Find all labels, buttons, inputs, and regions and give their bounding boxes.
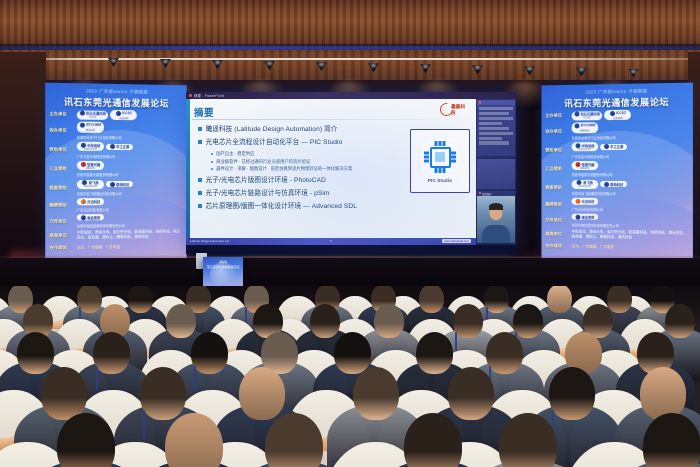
banner-sponsor-label: 汇品赞助 [545,166,571,172]
sponsor-logo-name: ICCSZ [616,111,626,115]
sponsor-logo-mark-icon [79,111,84,116]
sponsor-logo-chip: 易飞扬GIGALIGHT [572,180,599,189]
sponsor-company-name: 东莞市铭普光磁股份有限公司 [77,172,183,177]
sponsor-company-name: 广东光迅科技有限公司 [77,207,183,213]
attendee-lanyard [455,332,457,351]
sponsor-logo-chip: 中际旭创INNOLIGHT [572,142,599,151]
banner-sponsor-label: 交传单位 [49,218,77,224]
video-tile-speaker[interactable]: 演讲嘉宾 [477,191,515,243]
sponsor-logo-name: 华工正源 [116,144,129,149]
sponsor-logo-chip: 联特科技 [600,181,627,187]
sponsor-logo-chip: 海信宽带 [77,214,104,220]
participant-row [479,112,509,115]
sponsor-company-name: 广东华星光电科技有限公司 [77,154,183,159]
audience-member-head [547,286,572,313]
sponsor-logo-chip: 易飞扬GIGALIGHT [77,180,104,189]
banner-media-row: 合作媒体华为、广东联通、广东电信 [545,242,688,253]
screenshot-root: 2023 广东能source 升级赋能 讯石东莞光通信发展论坛 主办单位讯石光通… [0,0,700,467]
banner-screen-left: 2023 广东能source 升级赋能 讯石东莞光通信发展论坛 主办单位讯石光通… [45,83,186,264]
chip-pins-right [451,152,456,163]
audience-member-head [239,367,285,420]
banner-sponsor-label: 赞助单位 [545,148,571,154]
audience-member-head [416,332,453,374]
pic-studio-caption: PIC Studio [428,178,452,183]
sponsor-company-name: 东莞市海信宽带科技有限责任公司 [77,222,183,228]
banner-sponsor-logos: 讯石光通讯网ICCSZICCSZ光通讯网 [77,109,183,120]
projection-screen: 摘要 - PowerPoint 摘要 鑫磊科技 曦遥科技 (Latitude D… [186,92,516,254]
banner-sponsor-label: 汇品赞助 [49,166,77,172]
sponsor-logo-sub: ICCSZ [89,116,96,119]
sponsor-logo-chip: 铭普光磁MINGPU [77,161,104,170]
sponsor-logo-chip: 光迅科技 [77,199,104,205]
audience-member-head [640,367,686,420]
banner-sponsor-row: 赞助单位中际旭创INNOLIGHT华工正源广东华星光电科技有限公司 [545,142,688,159]
sponsor-logo-chip: ICCSZ光通讯网 [110,110,137,120]
slide-bullet-list: 曦遥科技 (Latitude Design Automation) 简介光电芯片… [198,125,398,215]
banner-sponsor-logos: BTCOMM博创科技东莞市光电子行业协会有限公司 [572,122,689,141]
banner-media-row: 合作媒体华为、广东联通、广东电信 [49,242,183,253]
banner-right-title: 讯石东莞光通信发展论坛 [541,95,692,110]
sponsor-logo-chip: BTCOMM博创科技 [572,123,599,133]
audience-member-head [419,286,444,313]
chip-pins-left [424,152,429,163]
banner-sponsor-logos: 海信宽带东莞市海信宽带科技有限责任公司 [77,214,183,229]
banner-sponsor-label: 交传单位 [545,217,571,223]
participant-row [479,141,509,144]
app-record-dot-icon [189,94,192,97]
chip-icon [422,139,458,175]
sponsor-company-name: 东莞市海信宽带科技有限责任公司 [572,222,689,228]
banner-sponsor-logos: 铭普光磁MINGPU东莞市铭普光磁股份有限公司 [77,161,183,178]
slide-subbullet-text: 器件设计 · 求解 · 版图设计 · 前后仿真到流片物理验证的一体化解决方案 [216,166,352,172]
sponsor-logo-sub: 博创科技 [580,128,589,132]
banner-sponsor-logos: 易飞扬GIGALIGHT联特科技东莞市易飞扬通信科技有限公司 [572,180,689,197]
banner-sponsor-row: 汇品赞助铭普光磁MINGPU东莞市铭普光磁股份有限公司 [545,161,688,178]
audience-member-head [310,304,340,338]
banner-sponsor-logos: 中际旭创INNOLIGHT华工正源广东华星光电科技有限公司 [572,142,689,159]
sponsor-logo-name: BTCOMM [86,123,101,127]
audience-member-head [353,367,399,420]
banner-sponsor-logos: 讯石光通讯网ICCSZICCSZ光通讯网 [572,109,689,121]
banner-exhibitor-list: 中际旭创、昂纳光电、索尔思光电、新易盛科技、剑桥科技、瑞光克拉、高意通、德科立、… [77,229,183,241]
slide-bullet: 光子/光电芯片版图设计环境 - PhotoCAD [198,176,398,185]
slide-bullet: 芯片原理图/版图一体化设计环境 — Advanced SDL [198,202,398,211]
attendee-lanyard [245,307,247,323]
sponsor-logo-mark-icon [80,123,85,128]
slide-subbullet-list: 国产自主 · 稳定供应商业级软件 · 已经过通讯行业头部用户的流片验证器件设计 … [211,151,398,172]
slide-bullet-text: 芯片原理图/版图一体化设计环境 — Advanced SDL [206,202,357,211]
slide-bullet-text: 光子/光电芯片版图设计环境 - PhotoCAD [206,176,326,185]
bullet-square-icon [198,191,202,195]
audience-area [0,286,700,467]
banner-sponsor-row: 协办单位BTCOMM博创科技东莞市光电子行业协会有限公司 [545,122,688,141]
sponsor-logo-mark-icon [604,182,609,187]
audience-member-head [93,332,130,374]
banner-exhibitor-row: 展商单位中际旭创、昂纳光电、索尔思光电、新易盛科技、剑桥科技、瑞光克拉、高意通、… [545,229,688,241]
slide-accent-bar [186,99,190,245]
slide-bullet: 曦遥科技 (Latitude Design Automation) 简介 [198,125,398,134]
banner-sponsor-row: 协办单位BTCOMM博创科技东莞市光电子行业协会有限公司 [49,122,183,141]
audience-member-head [41,367,87,420]
audience-member-head [486,332,523,374]
sponsor-logo-chip: 讯石光通讯网ICCSZ [572,111,603,121]
banner-sponsor-logos: 易飞扬GIGALIGHT联特科技东莞市易飞扬通信科技有限公司 [77,180,183,197]
banner-sponsor-label: 主办单位 [49,111,77,117]
subbullet-dot-icon [211,161,213,163]
sponsor-logo-mark-icon [575,214,580,219]
slide-footer-right: www.latitudeda.com [442,239,471,243]
subbullet-dot-icon [211,168,213,170]
banner-sponsor-label: 主办单位 [545,113,571,119]
banner-sponsor-label: 胸牌赞助 [545,202,571,208]
audience-member-head [453,304,483,338]
sponsor-logo-name: BTCOMM [581,124,596,128]
speaker-video-image [477,196,515,243]
sponsor-company-name: 东莞市铭普光磁股份有限公司 [572,172,689,177]
slide-footer: Latitude Design Automation Ltd. 5 www.la… [186,238,476,245]
banner-exhibitor-label: 展商单位 [49,233,77,239]
sponsor-logo-name: 光迅科技 [582,199,595,204]
banner-media-label: 合作媒体 [49,245,77,251]
sponsor-logo-name: 华工正源 [610,144,623,149]
sponsor-logo-chip: 华工正源 [600,144,627,150]
sponsor-company-name: 东莞市光电子行业协会有限公司 [77,135,183,141]
attendee-lanyard [143,410,145,440]
banner-sponsor-row: 胸牌赞助光迅科技广东光迅科技有限公司 [49,198,183,212]
pic-studio-card: PIC Studio [410,129,470,193]
sponsor-company-name: 东莞市易飞扬通信科技有限公司 [572,191,689,196]
slide-bullet: 光子/光电芯片链路设计与仿真环境 - pSim [198,189,398,198]
slide-footer-left: Latitude Design Automation Ltd. [190,239,230,243]
sponsor-logo-chip: 光迅科技 [572,198,599,204]
video-conference-rail: 演讲嘉宾 [476,99,516,245]
banner-sponsor-row: 胸牌赞助光迅科技广东光迅科技有限公司 [545,198,688,213]
sponsor-company-name: 广东华星光电科技有限公司 [572,153,689,158]
banner-sponsor-row: 主办单位讯石光通讯网ICCSZICCSZ光通讯网 [545,109,688,121]
slide-subbullet-text: 国产自主 · 稳定供应 [216,151,254,157]
banner-sponsor-logos: 光迅科技广东光迅科技有限公司 [572,198,689,212]
slide-title: 摘要 [194,105,214,119]
banner-sponsor-label: 胸牌赞助 [49,202,77,208]
sponsor-logo-chip: 联特科技 [106,181,133,187]
bullet-square-icon [198,140,202,144]
banner-sponsor-logos: 中际旭创INNOLIGHT华工正源广东华星光电科技有限公司 [77,142,183,159]
sponsor-logo-sub: GIGALIGHT [84,185,97,188]
sponsor-logo-mark-icon [575,199,580,204]
banner-sponsor-label: 协办单位 [49,128,77,134]
attendee-lanyard [194,366,196,390]
sponsor-logo-sub: 博创科技 [86,128,96,132]
sponsor-logo-chip: 讯石光通讯网ICCSZ [77,110,108,120]
slide-subbullet-text: 商业级软件 · 已经过通讯行业头部用户的流片验证 [216,159,310,165]
presentation-app-bar: 摘要 - PowerPoint [186,92,516,99]
audience-member-head [448,367,494,420]
sponsor-logo-mark-icon [110,144,115,149]
participant-row [479,122,502,125]
banner-sponsor-row: 交传单位海信宽带东莞市海信宽带科技有限责任公司 [545,214,688,229]
slide-bullet-text: 光子/光电芯片链路设计与仿真环境 - pSim [206,189,330,198]
banner-sponsor-row: 晚宴赞助易飞扬GIGALIGHT联特科技东莞市易飞扬通信科技有限公司 [545,180,688,197]
slide-canvas: 摘要 鑫磊科技 曦遥科技 (Latitude Design Automation… [186,99,476,245]
slide-bullet-text: 光电芯片全流程设计自动化平台 — PIC Studio [206,138,343,147]
banner-left-sponsor-rows: 主办单位讯石光通讯网ICCSZICCSZ光通讯网协办单位BTCOMM博创科技东莞… [49,109,183,255]
ceiling-wood-band [0,50,700,84]
participant-row [479,127,509,130]
sponsor-logo-name: 联特科技 [610,182,623,187]
sponsor-company-name: 东莞市光电子行业协会有限公司 [572,134,689,140]
podium-top-line: 2023 [203,260,243,264]
sponsor-logo-name: ICCSZ [122,111,132,115]
audience-member-head [607,286,632,313]
banner-sponsor-label: 赞助单位 [49,147,77,153]
audience-member-head [643,413,700,467]
slide-subbullet: 商业级软件 · 已经过通讯行业头部用户的流片验证 [211,159,398,165]
sponsor-logo-name: 联特科技 [116,182,129,187]
sponsor-logo-mark-icon [574,123,579,128]
audience-member-head [665,304,695,338]
banner-exhibitor-list: 中际旭创、昂纳光电、索尔思光电、新易盛科技、剑桥科技、瑞光克拉、高意通、德科立、… [572,229,689,241]
banner-exhibitor-label: 展商单位 [545,231,571,237]
sponsor-company-name: 广东光迅科技有限公司 [572,207,689,213]
banner-sponsor-label: 晚宴赞助 [545,185,571,191]
banner-sponsor-logos: 海信宽带东莞市海信宽带科技有限责任公司 [572,214,689,229]
sponsor-logo-sub: MINGPU [580,167,589,170]
banner-sponsor-label: 晚宴赞助 [49,185,77,191]
audience-member-head [166,304,196,338]
speaker-hair [489,203,503,210]
sponsor-logo-chip: ICCSZ光通讯网 [604,110,631,121]
sponsor-logo-chip: 中际旭创INNOLIGHT [77,142,104,151]
participant-row [479,137,502,140]
sponsor-logo-sub: INNOLIGHT [84,148,97,151]
bullet-square-icon [198,127,202,131]
banner-sponsor-row: 汇品赞助铭普光磁MINGPU东莞市铭普光磁股份有限公司 [49,161,183,178]
slide-bullet-text: 曦遥科技 (Latitude Design Automation) 简介 [206,125,338,134]
banner-screen-right: 2023 广东能source 升级赋能 讯石东莞光通信发展论坛 主办单位讯石光通… [541,83,692,266]
sponsor-logo-sub: 光通讯网 [119,116,128,120]
banner-sponsor-logos: 光迅科技广东光迅科技有限公司 [77,198,183,212]
lighting-track-rail [0,58,700,60]
chip-pins-bottom [435,168,446,173]
sponsor-logo-name: 海信宽带 [87,215,100,220]
banner-sponsor-row: 赞助单位中际旭创INNOLIGHT华工正源广东华星光电科技有限公司 [49,142,183,159]
banner-media-list: 华为、广东联通、广东电信 [572,244,689,251]
banner-sponsor-label: 协办单位 [545,129,571,135]
sponsor-logo-sub: ICCSZ [583,116,590,119]
company-logo: 鑫磊科技 [440,104,470,115]
audience-member-head [374,304,404,338]
sponsor-logo-chip: BTCOMM博创科技 [77,122,104,133]
chip-core [430,147,451,168]
chip-pins-top [435,141,446,146]
banner-media-label: 合作媒体 [545,243,571,249]
audience-member-head [513,304,543,338]
attendee-lanyard [96,366,98,390]
slide-bullet: 光电芯片全流程设计自动化平台 — PIC Studio [198,138,398,147]
audience-member-head [549,367,595,420]
podium-sub-line: 讯石东莞光通信发展论坛 [203,265,243,269]
app-bar-title: 摘要 - PowerPoint [194,93,224,98]
sponsor-logo-mark-icon [574,112,579,117]
bullet-square-icon [198,204,202,208]
bullet-square-icon [198,178,202,182]
sponsor-logo-sub: 光通讯网 [613,116,623,120]
participants-panel[interactable] [477,100,515,156]
slide-title-rule [192,119,470,120]
participants-panel-header [477,100,515,105]
subbullet-dot-icon [211,153,213,155]
audience-member-head [140,367,186,420]
audience-member-head [128,286,153,313]
sponsor-logo-sub: GIGALIGHT [578,185,591,188]
sponsor-logo-mark-icon [110,182,115,187]
sponsor-logo-chip: 海信宽带 [572,214,599,220]
banner-sponsor-row: 主办单位讯石光通讯网ICCSZICCSZ光通讯网 [49,109,183,121]
video-tile-empty[interactable] [477,159,515,189]
slide-subbullet: 器件设计 · 求解 · 版图设计 · 前后仿真到流片物理验证的一体化解决方案 [211,166,398,172]
participant-row [479,107,513,110]
banner-left-title: 讯石东莞光通信发展论坛 [45,95,186,110]
slide-subbullet: 国产自主 · 稳定供应 [211,151,398,157]
speaker-torso [482,225,510,243]
sponsor-logo-chip: 华工正源 [106,144,133,150]
sponsor-logo-mark-icon [604,144,609,149]
audience-member-head [191,332,228,374]
sponsor-logo-mark-icon [81,215,86,220]
audience-member-head [334,332,371,374]
banner-sponsor-logos: BTCOMM博创科技东莞市光电子行业协会有限公司 [77,122,183,140]
sponsor-logo-chip: 铭普光磁MINGPU [572,161,599,170]
banner-right-sponsor-rows: 主办单位讯石光通讯网ICCSZICCSZ光通讯网协办单位BTCOMM博创科技东莞… [545,109,688,255]
sponsor-logo-sub: INNOLIGHT [578,148,591,151]
banner-sponsor-row: 晚宴赞助易飞扬GIGALIGHT联特科技东莞市易飞扬通信科技有限公司 [49,180,183,197]
banner-exhibitor-row: 展商单位中际旭创、昂纳光电、索尔思光电、新易盛科技、剑桥科技、瑞光克拉、高意通、… [49,229,183,241]
sponsor-logo-sub: MINGPU [86,166,96,169]
participant-row [479,117,513,120]
banner-sponsor-row: 交传单位海信宽带东莞市海信宽带科技有限责任公司 [49,214,183,229]
banner-sponsor-logos: 铭普光磁MINGPU东莞市铭普光磁股份有限公司 [572,161,689,178]
sponsor-logo-name: 海信宽带 [582,215,595,220]
participant-row [479,132,513,135]
sponsor-logo-name: 光迅科技 [87,199,100,204]
audience-member-head [17,332,54,374]
sponsor-company-name: 东莞市易飞扬通信科技有限公司 [77,191,183,196]
banner-media-list: 华为、广东联通、广东电信 [77,244,183,251]
slide-page-number: 5 [330,239,332,243]
company-logo-text: 鑫磊科技 [451,104,470,116]
sponsor-logo-mark-icon [81,199,86,204]
